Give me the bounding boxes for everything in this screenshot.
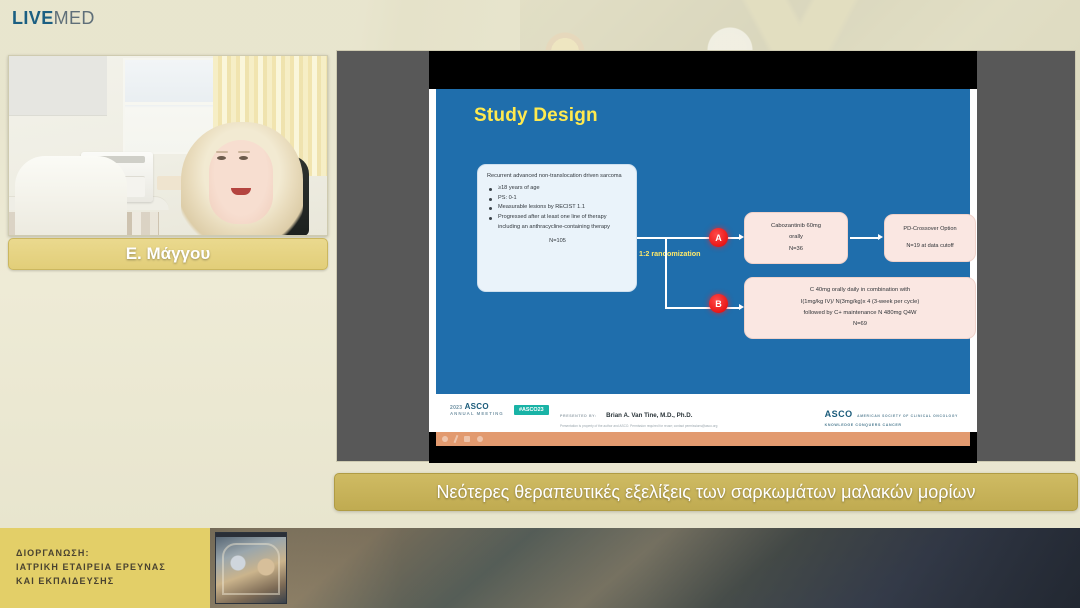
arm-a-line: N=36 bbox=[745, 244, 847, 255]
presented-by-label: PRESENTED BY: bbox=[560, 414, 597, 418]
speaker-video-feed bbox=[9, 56, 327, 235]
play-icon[interactable] bbox=[442, 436, 448, 442]
arm-node-b: B bbox=[709, 294, 728, 313]
arm-node-b-label: B bbox=[715, 299, 722, 309]
logo-med-text: MED bbox=[54, 8, 95, 28]
asco-hashtag-badge: #ASCO23 bbox=[514, 405, 549, 415]
asco-meeting-name: ASCO bbox=[465, 402, 489, 411]
slide-annotation-strip[interactable] bbox=[436, 432, 970, 446]
organizer-line: ΙΑΤΡΙΚΗ ΕΤΑΙΡΕΙΑ ΕΡΕΥΝΑΣ bbox=[16, 561, 210, 575]
arm-b-line: followed by C+ maintenance N 480mg Q4W bbox=[745, 308, 975, 319]
event-banner: ΔΙΟΡΓΑΝΩΣΗ: ΙΑΤΡΙΚΗ ΕΤΑΙΡΕΙΑ ΕΡΕΥΝΑΣ ΚΑΙ… bbox=[0, 528, 1080, 608]
slide-footer: 2023 ASCO ANNUAL MEETING #ASCO23 PRESENT… bbox=[436, 394, 970, 432]
asco-logo-sub: AMERICAN SOCIETY OF CLINICAL ONCOLOGY bbox=[857, 414, 958, 418]
speaker-nameplate: Ε. Μάγγου bbox=[8, 238, 328, 270]
arm-a-line: Cabozantinib 60mg bbox=[745, 221, 847, 232]
organizer-line: ΔΙΟΡΓΑΝΩΣΗ: bbox=[16, 547, 210, 561]
eligibility-lead: Recurrent advanced non-translocation dri… bbox=[487, 172, 628, 182]
slide-title: Study Design bbox=[474, 105, 598, 127]
connector-to-arm-a bbox=[665, 237, 741, 239]
eligibility-criteria-list: ≥18 years of age PS: 0-1 Measurable lesi… bbox=[487, 184, 628, 233]
pen-icon[interactable] bbox=[454, 435, 459, 443]
livemed-logo[interactable]: LIVEMED bbox=[12, 9, 95, 27]
speaker-name: Ε. Μάγγου bbox=[126, 244, 211, 264]
session-title-bar: Νεότερες θεραπευτικές εξελίξεις των σαρκ… bbox=[334, 473, 1078, 511]
crossover-line: N=19 at data cutoff bbox=[885, 241, 975, 252]
video-wall-panel bbox=[9, 56, 107, 116]
slide-legal-text: Presentation is property of the author a… bbox=[560, 424, 717, 428]
app-root: LIVEMED Ε. Μ bbox=[0, 0, 1080, 608]
speaker-video-panel[interactable] bbox=[8, 55, 328, 236]
organizer-line: ΚΑΙ ΕΚΠΑΙΔΕΥΣΗΣ bbox=[16, 575, 210, 589]
crossover-box: PD-Crossover Option N=19 at data cutoff bbox=[884, 214, 976, 262]
logo-live-text: LIVE bbox=[12, 8, 54, 28]
person-brow-right bbox=[238, 151, 250, 153]
banner-artwork-thumbnail bbox=[215, 532, 287, 604]
asco-logo-name: ASCO bbox=[825, 409, 853, 419]
person-eye-right bbox=[239, 156, 248, 160]
asco-meeting-logo: 2023 ASCO ANNUAL MEETING bbox=[450, 403, 504, 417]
presentation-slide: Study Design Recurrent advanced non-tran… bbox=[429, 89, 977, 432]
presented-by-block: PRESENTED BY: Brian A. Van Tine, M.D., P… bbox=[560, 404, 717, 428]
arm-b-line: I(1mg/kg IV)/ N(3mg/kg)x 4 (3-week per c… bbox=[745, 297, 975, 308]
slide-body: Study Design Recurrent advanced non-tran… bbox=[436, 89, 970, 394]
eligibility-criterion: Measurable lesions by RECIST 1.1 bbox=[487, 203, 628, 213]
eligibility-criterion: Progressed after at least one line of th… bbox=[487, 213, 628, 233]
pointer-icon[interactable] bbox=[477, 436, 483, 442]
arm-node-a-label: A bbox=[715, 233, 722, 243]
arrow-head-crossover bbox=[878, 234, 883, 240]
arm-b-line: N=69 bbox=[745, 319, 975, 330]
eligibility-criterion: PS: 0-1 bbox=[487, 194, 628, 204]
arm-b-box: C 40mg orally daily in combination with … bbox=[744, 277, 976, 339]
asco-meeting-sub: ANNUAL MEETING bbox=[450, 412, 504, 417]
arm-a-line: orally bbox=[745, 232, 847, 243]
arm-a-box: Cabozantinib 60mg orally N=36 bbox=[744, 212, 848, 264]
person-eye-left bbox=[217, 156, 226, 160]
eligibility-box: Recurrent advanced non-translocation dri… bbox=[477, 164, 637, 292]
arm-node-a: A bbox=[709, 228, 728, 247]
person-brow-left bbox=[216, 151, 228, 153]
asco-org-logo: ASCO AMERICAN SOCIETY OF CLINICAL ONCOLO… bbox=[825, 404, 958, 427]
asco-logo-tagline: KNOWLEDGE CONQUERS CANCER bbox=[825, 423, 958, 427]
connector-to-arm-b bbox=[665, 307, 741, 309]
arm-b-line: C 40mg orally daily in combination with bbox=[745, 285, 975, 296]
session-title-text: Νεότερες θεραπευτικές εξελίξεις των σαρκ… bbox=[436, 482, 975, 503]
eligibility-n: N=105 bbox=[487, 237, 628, 247]
eligibility-criterion: ≥18 years of age bbox=[487, 184, 628, 194]
banner-background-image bbox=[210, 528, 1080, 608]
connector-to-crossover bbox=[850, 237, 880, 239]
connector-stem bbox=[637, 237, 665, 239]
crossover-line: PD-Crossover Option bbox=[885, 224, 975, 235]
presenter-name: Brian A. Van Tine, M.D., Ph.D. bbox=[606, 412, 692, 419]
person-body bbox=[15, 156, 127, 235]
video-speaker-person bbox=[181, 122, 303, 235]
organizer-block: ΔΙΟΡΓΑΝΩΣΗ: ΙΑΤΡΙΚΗ ΕΤΑΙΡΕΙΑ ΕΡΕΥΝΑΣ ΚΑΙ… bbox=[0, 528, 210, 608]
note-icon[interactable] bbox=[464, 436, 470, 442]
annotation-toolbar[interactable] bbox=[442, 435, 483, 443]
slide-player[interactable]: Study Design Recurrent advanced non-tran… bbox=[336, 50, 1076, 462]
connector-vertical bbox=[665, 237, 667, 309]
randomization-label: 1:2 randomization bbox=[639, 249, 701, 258]
